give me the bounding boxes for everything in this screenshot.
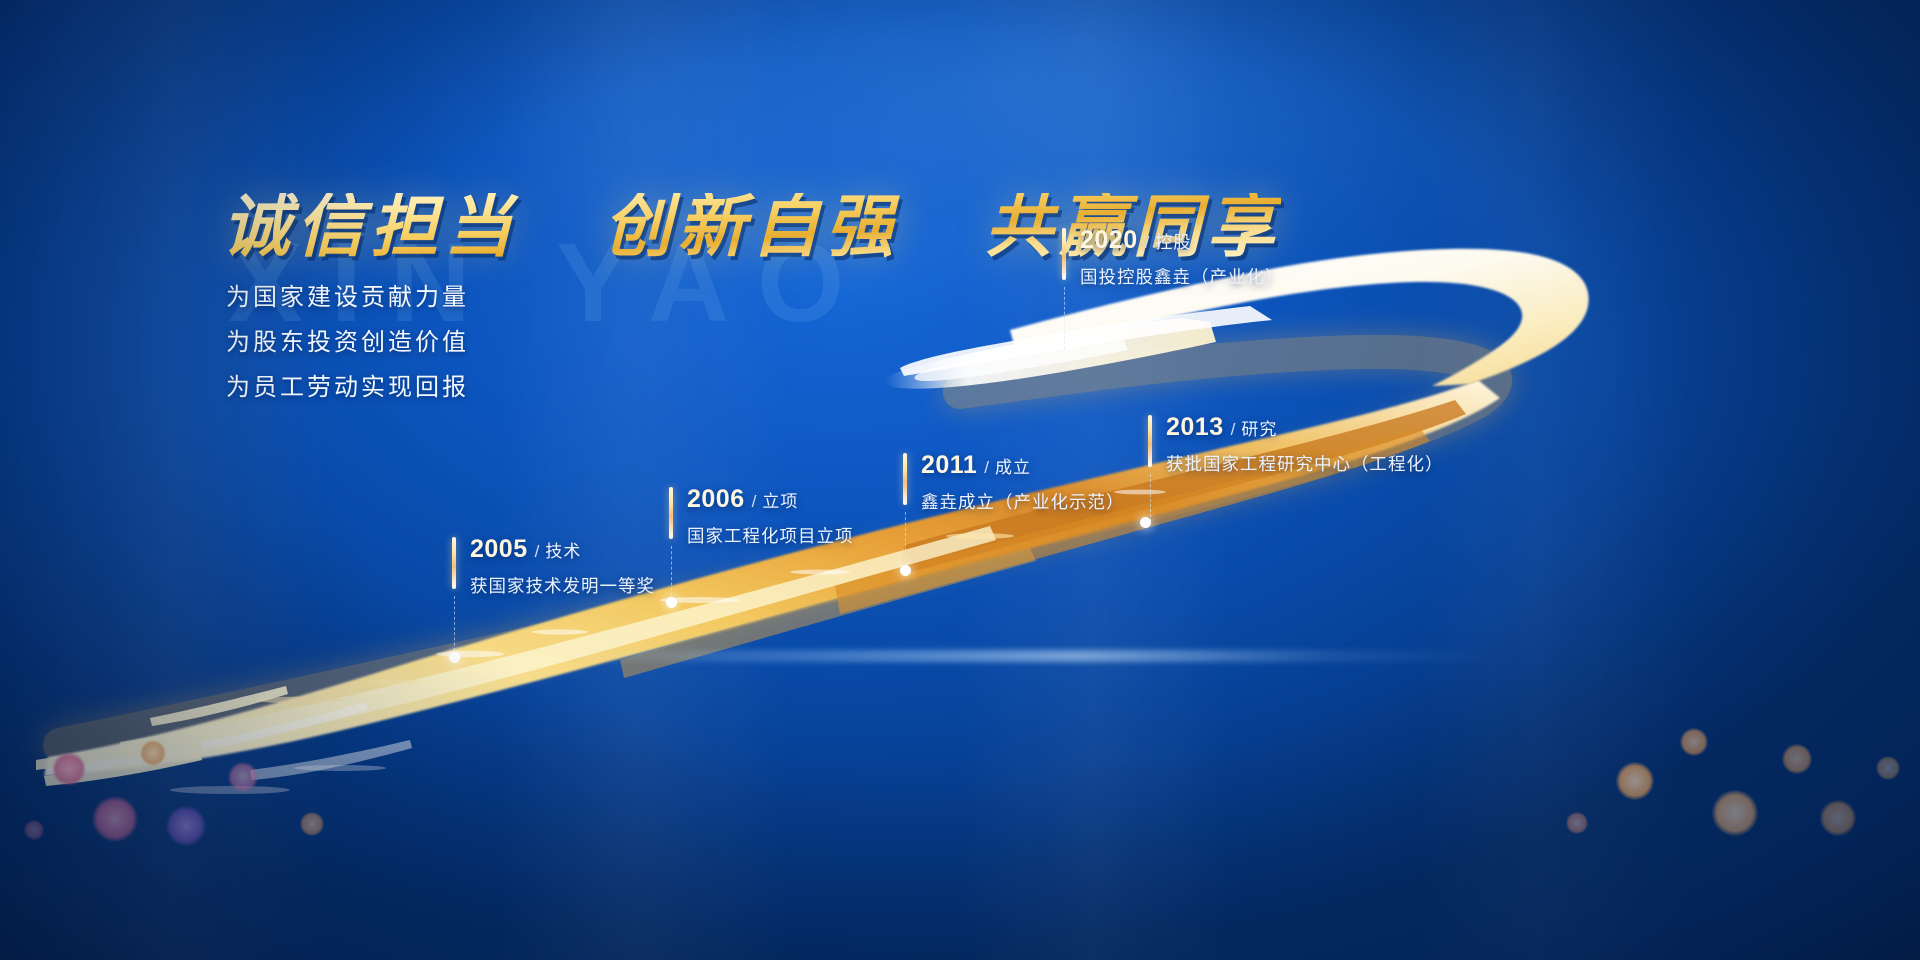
milestone-text: 2011/成立 鑫垚成立（产业化示范） (921, 451, 1125, 514)
milestone-description: 获国家技术发明一等奖 (470, 573, 655, 598)
horizon-light-streak (560, 650, 1500, 662)
milestone-year: 2011/成立 (921, 451, 1125, 480)
milestone-description: 国家工程化项目立项 (687, 523, 854, 548)
milestone-tag-value: 立项 (762, 492, 798, 511)
milestone-tag-value: 研究 (1241, 420, 1277, 439)
milestone-year-value: 2011 (921, 451, 977, 479)
slogan-item: 为国家建设贡献力量 (226, 286, 469, 310)
milestone-leader-line-2011 (905, 512, 906, 567)
milestone-year-value: 2006 (687, 485, 745, 513)
slogan-item: 为员工劳动实现回报 (226, 376, 469, 400)
milestone-dot-2006 (666, 597, 677, 608)
banner-stage: XIN YAO (0, 0, 1920, 960)
milestone-accent-bar (1148, 415, 1152, 467)
milestone-text: 2020/控股 国投控股鑫垚（产业化） (1080, 226, 1284, 289)
milestone-leader-line-2013 (1150, 474, 1151, 522)
milestone-year-value: 2020 (1080, 226, 1138, 254)
milestone-year: 2013/研究 (1166, 413, 1444, 442)
milestone-year-value: 2013 (1166, 413, 1224, 441)
milestone-tag-value: 控股 (1155, 233, 1191, 252)
milestone-description: 鑫垚成立（产业化示范） (921, 489, 1125, 514)
milestone-separator: / (984, 458, 990, 477)
slogan-item: 为股东投资创造价值 (226, 331, 469, 355)
headline-part-2: 创新自强 (603, 193, 899, 261)
milestone-text: 2013/研究 获批国家工程研究中心（工程化） (1166, 413, 1444, 476)
milestone-tag-value: 成立 (995, 458, 1031, 477)
slogan-list: 为国家建设贡献力量 为股东投资创造价值 为员工劳动实现回报 (226, 286, 469, 421)
milestone-dot-2011 (900, 565, 911, 576)
milestone-separator: / (752, 492, 758, 511)
milestone-description: 获批国家工程研究中心（工程化） (1166, 451, 1444, 476)
milestone-year: 2005/技术 (470, 535, 655, 564)
milestone-accent-bar (669, 487, 673, 539)
milestone-leader-line-2006 (671, 546, 672, 601)
milestone-year-value: 2005 (470, 535, 528, 563)
milestone-leader-line-2020 (1064, 287, 1065, 349)
milestone-accent-bar (452, 537, 456, 589)
headline-part-1: 诚信担当 (222, 193, 518, 261)
milestone-separator: / (1231, 420, 1237, 439)
milestone-tag-value: 技术 (545, 542, 581, 561)
milestone-leader-line-2005 (454, 596, 455, 656)
milestone-tag: /成立 (984, 458, 1031, 477)
milestone-text: 2006/立项 国家工程化项目立项 (687, 485, 854, 548)
milestone-year: 2006/立项 (687, 485, 854, 514)
milestone-tag: /立项 (752, 492, 799, 511)
milestone-separator: / (1145, 233, 1151, 252)
milestone-tag: /研究 (1231, 420, 1278, 439)
milestone-text: 2005/技术 获国家技术发明一等奖 (470, 535, 655, 598)
milestone-tag: /技术 (535, 542, 582, 561)
milestone-year: 2020/控股 (1080, 226, 1284, 255)
milestone-accent-bar (1062, 228, 1066, 280)
milestone-tag: /控股 (1145, 233, 1192, 252)
milestone-accent-bar (903, 453, 907, 505)
milestone-dot-2013 (1140, 517, 1151, 528)
milestone-description: 国投控股鑫垚（产业化） (1080, 264, 1284, 289)
milestone-separator: / (535, 542, 541, 561)
milestone-dot-2005 (449, 652, 460, 663)
